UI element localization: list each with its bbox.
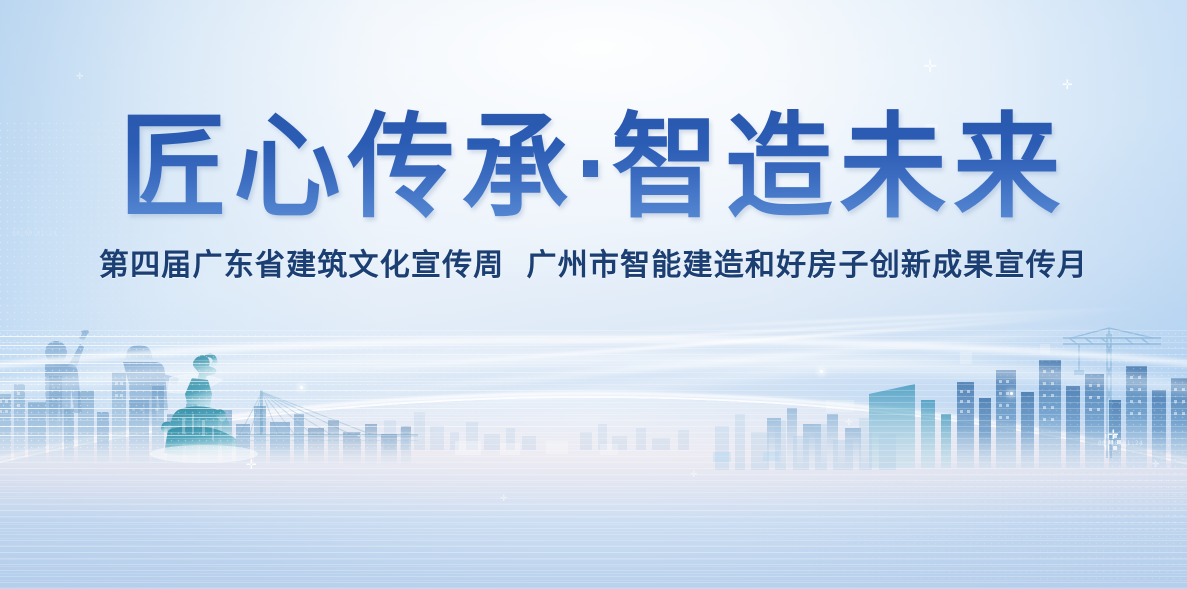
glow-dot (820, 370, 823, 373)
subtitle-part-2: 广州市智能建造和好房子创新成果宣传月 (527, 249, 1089, 282)
glass-panel (1040, 344, 1050, 354)
glass-panel (455, 441, 481, 455)
headline-separator: · (576, 104, 612, 231)
headline-part-2: 智造未来 (611, 104, 1067, 231)
sparkle-icon: ✛ (357, 432, 365, 441)
sparkle-icon: ✛ (1152, 460, 1160, 469)
page-subtitle: 第四届广东省建筑文化宣传周广州市智能建造和好房子创新成果宣传月 (0, 240, 1187, 284)
page-title: 匠心传承·智造未来 (0, 108, 1187, 227)
glow-dot (1010, 392, 1013, 395)
headline-part-1: 匠心传承 (120, 104, 576, 231)
sparkle-icon: ✛ (690, 470, 698, 479)
glass-panel (546, 441, 568, 454)
microtext-timecode: 00:00:01:24 (1098, 440, 1143, 447)
glass-panel (763, 452, 779, 461)
promo-banner: ✛ ✛ ✛ ✛ ✛ ✛ ✛ ✛ ✛ ✛ 00:00:01:24 00:00:01… (0, 0, 1187, 589)
glass-panel (960, 352, 972, 364)
glow-dot (300, 386, 303, 389)
poster-text-block: 匠心传承·智造未来 第四届广东省建筑文化宣传周广州市智能建造和好房子创新成果宣传… (0, 108, 1187, 284)
glass-panel (826, 400, 854, 412)
sparkle-icon: ✛ (246, 458, 257, 471)
sparkle-icon: ✛ (1062, 78, 1073, 91)
sparkle-icon: ✛ (76, 72, 84, 81)
sparkle-icon: ✛ (845, 418, 853, 427)
sparkle-icon: ✛ (500, 494, 508, 503)
glass-panel (713, 452, 731, 462)
subtitle-part-1: 第四届广东省建筑文化宣传周 (99, 249, 505, 282)
scan-lines (0, 330, 1187, 589)
glass-panel (600, 444, 618, 455)
sparkle-icon: ✛ (923, 58, 937, 75)
glass-panel (500, 443, 520, 455)
